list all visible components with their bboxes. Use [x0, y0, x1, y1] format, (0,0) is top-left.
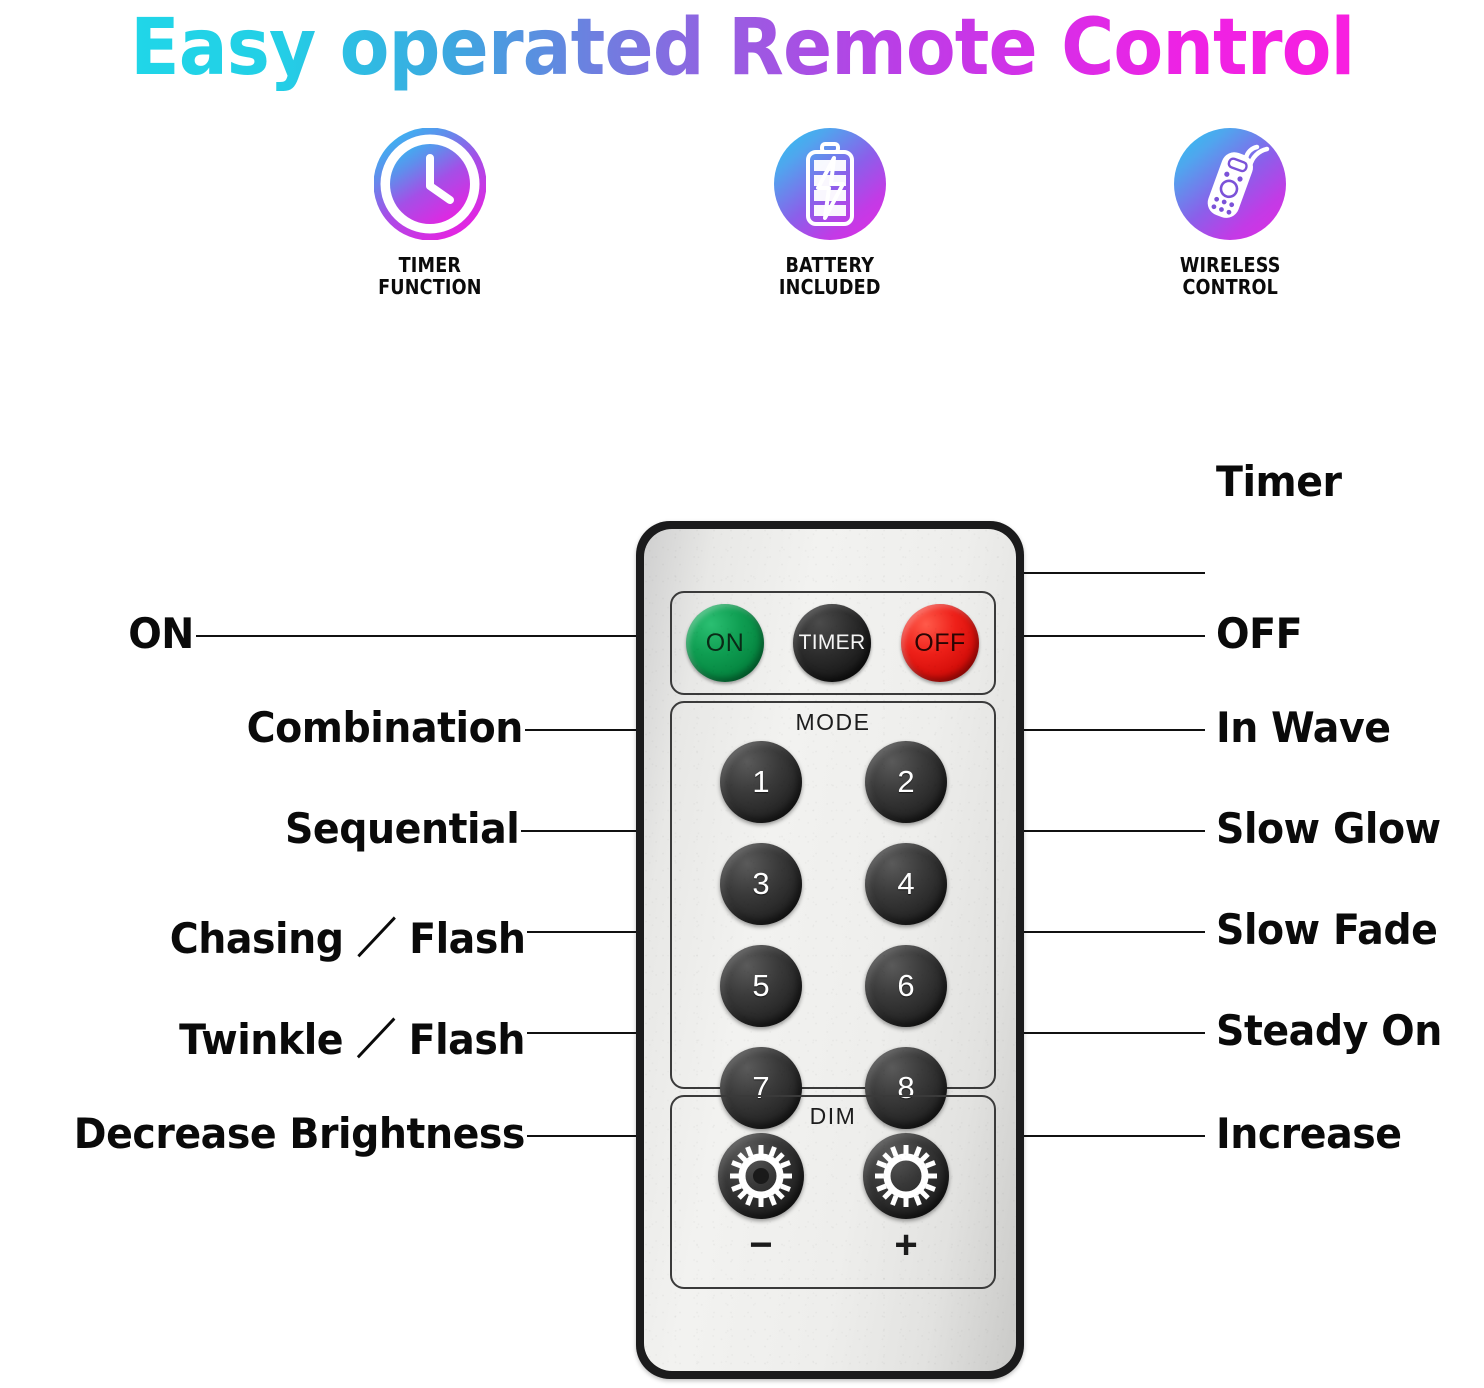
brightness-increase-button[interactable] [863, 1133, 949, 1219]
remote-control: ON TIMER OFF MODE 1 2 3 4 5 6 7 8 DIM [636, 521, 1024, 1379]
mode-button-4[interactable]: 4 [865, 843, 947, 925]
feature-caption-line1: TIMER [399, 253, 462, 277]
feature-list: TIMER FUNCTION BATTERY INCLUDED [300, 128, 1360, 318]
callout-twinkle-flash: Twinkle ／ Flash [179, 1006, 525, 1067]
feature-wireless-control: WIRELESS CONTROL [1100, 128, 1360, 318]
feature-timer-function: TIMER FUNCTION [300, 128, 560, 318]
callout-chasing-flash: Chasing ／ Flash [169, 905, 525, 966]
title-banner: Easy operated Remote Control [0, 0, 1484, 96]
clock-icon [374, 128, 486, 240]
feature-battery-included: BATTERY INCLUDED [700, 128, 960, 318]
feature-caption-line1: WIRELESS [1180, 253, 1281, 277]
feature-caption-line1: BATTERY [786, 253, 875, 277]
mode-button-1[interactable]: 1 [720, 741, 802, 823]
feature-caption: TIMER FUNCTION [378, 254, 482, 299]
callout-off: OFF [1216, 609, 1302, 658]
feature-caption-line2: CONTROL [1180, 276, 1281, 298]
on-button[interactable]: ON [686, 604, 764, 682]
callout-slow-fade: Slow Fade [1216, 905, 1437, 954]
callout-decrease-brightness: Decrease Brightness [74, 1109, 525, 1158]
feature-caption: BATTERY INCLUDED [779, 254, 881, 299]
callout-combination: Combination [247, 703, 523, 752]
callout-timer: Timer [1216, 457, 1342, 506]
page-title: Easy operated Remote Control [130, 3, 1354, 93]
callout-on: ON [128, 609, 194, 658]
power-panel: ON TIMER OFF [670, 591, 996, 695]
mode-button-2[interactable]: 2 [865, 741, 947, 823]
mode-button-5[interactable]: 5 [720, 945, 802, 1027]
mode-button-3[interactable]: 3 [720, 843, 802, 925]
callout-in-wave: In Wave [1216, 703, 1391, 752]
timer-button[interactable]: TIMER [793, 604, 871, 682]
dim-panel-label: DIM [672, 1103, 994, 1130]
mode-button-6[interactable]: 6 [865, 945, 947, 1027]
callout-steady-on: Steady On [1216, 1006, 1442, 1055]
feature-caption-line2: FUNCTION [378, 276, 482, 298]
mode-panel-label: MODE [672, 709, 994, 736]
sun-filled-icon [718, 1133, 804, 1219]
remote-face: ON TIMER OFF MODE 1 2 3 4 5 6 7 8 DIM [644, 529, 1016, 1371]
brightness-decrease-button[interactable] [718, 1133, 804, 1219]
mode-panel: MODE 1 2 3 4 5 6 7 8 [670, 701, 996, 1089]
plus-sign: + [863, 1225, 949, 1265]
callout-sequential: Sequential [285, 804, 519, 853]
feature-caption: WIRELESS CONTROL [1180, 254, 1281, 299]
dim-panel: DIM [670, 1095, 996, 1289]
minus-sign: − [718, 1225, 804, 1265]
off-button[interactable]: OFF [901, 604, 979, 682]
callout-slow-glow: Slow Glow [1216, 804, 1441, 853]
callout-increase: Increase [1216, 1109, 1402, 1158]
feature-caption-line2: INCLUDED [779, 276, 881, 298]
battery-icon [774, 128, 886, 240]
sun-hollow-icon [863, 1133, 949, 1219]
remote-icon [1174, 128, 1286, 240]
